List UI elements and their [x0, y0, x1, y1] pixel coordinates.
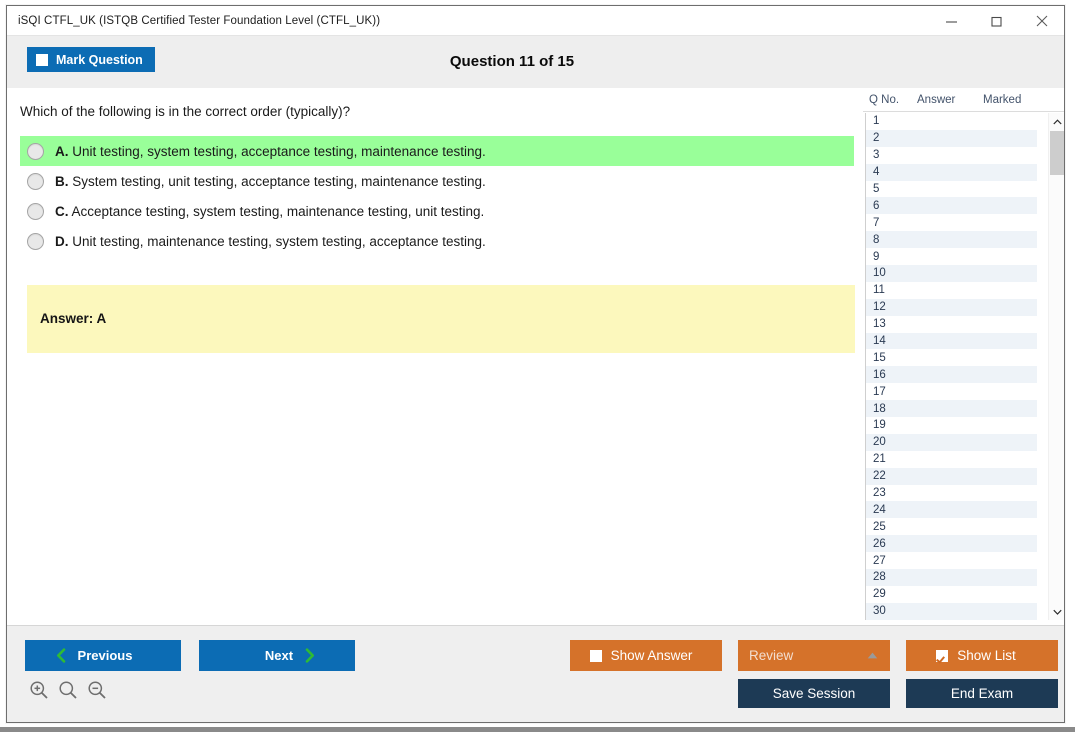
question-list-row[interactable]: 14 — [866, 333, 1037, 350]
question-list-row[interactable]: 12 — [866, 299, 1037, 316]
zoom-out-icon[interactable] — [87, 680, 107, 700]
question-list-row[interactable]: 24 — [866, 501, 1037, 518]
question-list-row[interactable]: 5 — [866, 181, 1037, 198]
question-list-row[interactable]: 29 — [866, 586, 1037, 603]
radio-button-icon[interactable] — [27, 143, 44, 160]
answer-value: Answer: A — [40, 311, 106, 326]
cell-question-number: 20 — [866, 436, 917, 448]
answer-option-letter: C. — [55, 204, 69, 219]
answer-option-text: A. Unit testing, system testing, accepta… — [55, 144, 486, 159]
chevron-left-icon — [56, 648, 67, 663]
show-list-label: Show List — [957, 648, 1016, 663]
cell-question-number: 26 — [866, 538, 917, 550]
cell-question-number: 4 — [866, 166, 917, 178]
next-label: Next — [265, 648, 293, 663]
close-icon[interactable] — [1019, 6, 1064, 36]
cell-question-number: 11 — [866, 284, 917, 296]
mark-question-label: Mark Question — [56, 53, 143, 67]
cell-question-number: 2 — [866, 132, 917, 144]
show-list-button[interactable]: Show List — [906, 640, 1058, 671]
answer-option-body: Acceptance testing, system testing, main… — [72, 204, 485, 219]
zoom-reset-icon[interactable] — [58, 680, 78, 700]
mark-question-checkbox[interactable] — [36, 54, 48, 66]
question-list-row[interactable]: 19 — [866, 417, 1037, 434]
mark-question-button[interactable]: Mark Question — [27, 47, 155, 72]
question-list-row[interactable]: 20 — [866, 434, 1037, 451]
answer-option-c[interactable]: C. Acceptance testing, system testing, m… — [20, 196, 854, 226]
cell-question-number: 24 — [866, 504, 917, 516]
zoom-controls — [29, 680, 107, 700]
previous-label: Previous — [78, 648, 133, 663]
column-header-qno: Q No. — [863, 94, 917, 106]
review-selected-value: Review — [749, 648, 793, 663]
question-list-row[interactable]: 17 — [866, 383, 1037, 400]
page-title: Question 11 of 15 — [7, 36, 1017, 88]
question-list-row[interactable]: 4 — [866, 164, 1037, 181]
answer-option-body: System testing, unit testing, acceptance… — [72, 174, 485, 189]
question-list-row[interactable]: 28 — [866, 569, 1037, 586]
cell-question-number: 1 — [866, 115, 917, 127]
cell-question-number: 18 — [866, 403, 917, 415]
cell-question-number: 27 — [866, 555, 917, 567]
cell-question-number: 16 — [866, 369, 917, 381]
question-list-row[interactable]: 23 — [866, 485, 1037, 502]
answer-option-letter: D. — [55, 234, 69, 249]
column-header-marked: Marked — [983, 94, 1045, 106]
chevron-up-icon[interactable] — [867, 652, 878, 659]
scrollbar-thumb[interactable] — [1050, 131, 1065, 175]
cell-question-number: 21 — [866, 453, 917, 465]
scroll-up-icon[interactable] — [1049, 113, 1065, 130]
cell-question-number: 14 — [866, 335, 917, 347]
answer-option-letter: B. — [55, 174, 69, 189]
end-exam-button[interactable]: End Exam — [906, 679, 1058, 708]
question-list-panel: Q No. Answer Marked 12345678910111213141… — [863, 88, 1065, 625]
question-list-row[interactable]: 10 — [866, 265, 1037, 282]
exam-application-window: iSQI CTFL_UK (ISTQB Certified Tester Fou… — [6, 5, 1065, 723]
question-list-row[interactable]: 9 — [866, 248, 1037, 265]
minimize-icon[interactable] — [929, 6, 974, 36]
question-list-row[interactable]: 3 — [866, 147, 1037, 164]
question-list-row[interactable]: 21 — [866, 451, 1037, 468]
cell-question-number: 22 — [866, 470, 917, 482]
question-prompt: Which of the following is in the correct… — [20, 104, 350, 119]
window-title: iSQI CTFL_UK (ISTQB Certified Tester Fou… — [7, 15, 380, 27]
answer-option-text: B. System testing, unit testing, accepta… — [55, 174, 486, 189]
answer-options-list: A. Unit testing, system testing, accepta… — [20, 136, 854, 256]
answer-option-b[interactable]: B. System testing, unit testing, accepta… — [20, 166, 854, 196]
review-dropdown[interactable]: Review — [738, 640, 890, 671]
answer-option-body: Unit testing, system testing, acceptance… — [72, 144, 485, 159]
question-list-row[interactable]: 6 — [866, 197, 1037, 214]
cell-question-number: 9 — [866, 251, 917, 263]
title-bar: iSQI CTFL_UK (ISTQB Certified Tester Fou… — [7, 6, 1064, 36]
answer-option-body: Unit testing, maintenance testing, syste… — [72, 234, 485, 249]
cell-question-number: 3 — [866, 149, 917, 161]
question-list-row[interactable]: 27 — [866, 552, 1037, 569]
bottom-toolbar: Previous Next Show — [7, 625, 1064, 722]
question-list-row[interactable]: 13 — [866, 316, 1037, 333]
question-list-row[interactable]: 16 — [866, 366, 1037, 383]
previous-button[interactable]: Previous — [25, 640, 181, 671]
cell-question-number: 6 — [866, 200, 917, 212]
save-session-label: Save Session — [773, 686, 856, 701]
cell-question-number: 10 — [866, 267, 917, 279]
question-list-scrollbar[interactable] — [1048, 113, 1065, 620]
cell-question-number: 29 — [866, 588, 917, 600]
question-list-body[interactable]: 1234567891011121314151617181920212223242… — [865, 113, 1037, 620]
answer-option-a[interactable]: A. Unit testing, system testing, accepta… — [20, 136, 854, 166]
command-strip: Question 11 of 15 Mark Question — [7, 36, 1064, 88]
question-list-row[interactable]: 30 — [866, 603, 1037, 620]
question-list-row[interactable]: 25 — [866, 518, 1037, 535]
show-answer-checkbox[interactable] — [590, 650, 602, 662]
column-header-answer: Answer — [917, 94, 983, 106]
cell-question-number: 13 — [866, 318, 917, 330]
show-list-checkbox[interactable] — [936, 650, 948, 662]
zoom-in-icon[interactable] — [29, 680, 49, 700]
answer-option-text: D. Unit testing, maintenance testing, sy… — [55, 234, 486, 249]
question-list-row[interactable]: 2 — [866, 130, 1037, 147]
question-content-area: Which of the following is in the correct… — [7, 88, 859, 625]
answer-option-d[interactable]: D. Unit testing, maintenance testing, sy… — [20, 226, 854, 256]
cell-question-number: 19 — [866, 419, 917, 431]
cell-question-number: 8 — [866, 234, 917, 246]
question-list-row[interactable]: 26 — [866, 535, 1037, 552]
show-answer-button[interactable]: Show Answer — [570, 640, 722, 671]
show-answer-label: Show Answer — [611, 648, 693, 663]
answer-option-letter: A. — [55, 144, 69, 159]
scroll-down-icon[interactable] — [1049, 603, 1065, 620]
question-list-row[interactable]: 1 — [866, 113, 1037, 130]
radio-button-icon[interactable] — [27, 173, 44, 190]
save-session-button[interactable]: Save Session — [738, 679, 890, 708]
question-list-row[interactable]: 22 — [866, 468, 1037, 485]
next-button[interactable]: Next — [199, 640, 355, 671]
cell-question-number: 17 — [866, 386, 917, 398]
radio-button-icon[interactable] — [27, 203, 44, 220]
answer-reveal-box: Answer: A — [27, 285, 855, 353]
answer-option-text: C. Acceptance testing, system testing, m… — [55, 204, 484, 219]
question-list-row[interactable]: 7 — [866, 214, 1037, 231]
radio-button-icon[interactable] — [27, 233, 44, 250]
cell-question-number: 23 — [866, 487, 917, 499]
cell-question-number: 12 — [866, 301, 917, 313]
question-list-row[interactable]: 18 — [866, 400, 1037, 417]
question-list-header: Q No. Answer Marked — [863, 88, 1065, 112]
question-list-row[interactable]: 11 — [866, 282, 1037, 299]
cell-question-number: 7 — [866, 217, 917, 229]
window-controls — [929, 6, 1064, 36]
background-shadow-strip — [0, 727, 1075, 732]
cell-question-number: 25 — [866, 521, 917, 533]
chevron-right-icon — [304, 648, 315, 663]
cell-question-number: 30 — [866, 605, 917, 617]
cell-question-number: 28 — [866, 571, 917, 583]
question-list-row[interactable]: 15 — [866, 349, 1037, 366]
end-exam-label: End Exam — [951, 686, 1013, 701]
cell-question-number: 15 — [866, 352, 917, 364]
cell-question-number: 5 — [866, 183, 917, 195]
maximize-icon[interactable] — [974, 6, 1019, 36]
question-list-row[interactable]: 8 — [866, 231, 1037, 248]
